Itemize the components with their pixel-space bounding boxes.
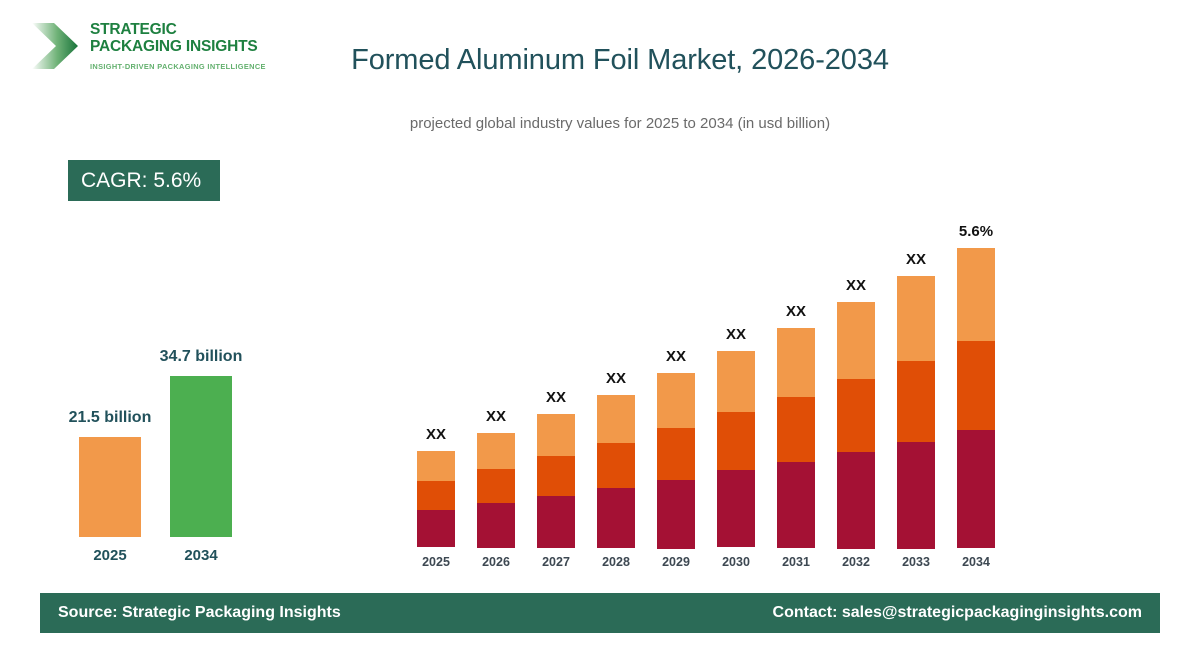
stacked-bar-segment-segment-2 (417, 481, 455, 510)
stacked-bar-top-label: XX (777, 303, 815, 320)
stacked-bar-segment-segment-3 (477, 433, 515, 469)
stacked-bar (717, 351, 755, 548)
stacked-bar-year-label: 2026 (477, 555, 515, 569)
stacked-bar-segment-segment-1 (657, 480, 695, 549)
stacked-bar-segment-segment-2 (777, 397, 815, 462)
stacked-bar-segment-segment-3 (597, 395, 635, 443)
stacked-bar-top-label: XX (837, 277, 875, 294)
stacked-bar-segment-segment-3 (717, 351, 755, 412)
stacked-bar-segment-segment-3 (897, 276, 935, 361)
stacked-bar (537, 414, 575, 548)
stacked-bar-top-label: XX (657, 348, 695, 365)
stacked-bar-top-label: XX (537, 389, 575, 406)
comparison-bar (170, 376, 232, 537)
stacked-bar-year-label: 2027 (537, 555, 575, 569)
stacked-bar-segment-segment-2 (837, 379, 875, 452)
stacked-bar-segment-segment-1 (897, 442, 935, 549)
footer-source: Source: Strategic Packaging Insights (58, 604, 341, 622)
stacked-bar-group: XX2029 (657, 195, 695, 570)
comparison-bar (79, 437, 141, 537)
stacked-bar-year-label: 2031 (777, 555, 815, 569)
stacked-bar-segment-segment-2 (957, 341, 995, 430)
stacked-bar-segment-segment-2 (597, 443, 635, 488)
comparison-bar-chart: 21.5 billion202534.7 billion2034 (50, 300, 290, 570)
stacked-bar-segment-segment-1 (717, 470, 755, 547)
stacked-bar-group: XX2032 (837, 195, 875, 570)
stacked-bar (897, 276, 935, 548)
stacked-bar (837, 302, 875, 548)
stacked-bar-segment-segment-1 (537, 496, 575, 548)
stacked-bar (597, 395, 635, 548)
footer-contact: Contact: sales@strategicpackaginginsight… (773, 604, 1142, 622)
stacked-bar-group: XX2030 (717, 195, 755, 570)
stacked-bar-segment-segment-2 (717, 412, 755, 470)
footer-bar: Source: Strategic Packaging Insights Con… (40, 593, 1160, 633)
stacked-bar-segment-segment-1 (477, 503, 515, 548)
stacked-bar-segment-segment-1 (957, 430, 995, 548)
stacked-bar-year-label: 2034 (957, 555, 995, 569)
stacked-bar-group: 5.6%2034 (957, 195, 995, 570)
comparison-bar-value-label: 34.7 billion (142, 348, 260, 366)
logo-line-1: STRATEGIC (90, 22, 270, 39)
stacked-bar-segment-segment-1 (777, 462, 815, 548)
stacked-bar-year-label: 2032 (837, 555, 875, 569)
company-logo: STRATEGIC PACKAGING INSIGHTS INSIGHT-DRI… (30, 18, 270, 80)
stacked-bar-segment-segment-1 (417, 510, 455, 547)
stacked-bar-year-label: 2029 (657, 555, 695, 569)
stacked-bar-segment-segment-2 (537, 456, 575, 496)
stacked-bar-top-label: XX (477, 408, 515, 425)
page-title: Formed Aluminum Foil Market, 2026-2034 (240, 44, 1000, 77)
stacked-bar-chart: XX2025XX2026XX2027XX2028XX2029XX2030XX20… (400, 195, 1020, 570)
stacked-bar-group: XX2033 (897, 195, 935, 570)
stacked-bar-top-label: XX (717, 326, 755, 343)
stacked-bar-segment-segment-3 (837, 302, 875, 379)
cagr-badge: CAGR: 5.6% (68, 160, 220, 201)
stacked-bar-year-label: 2033 (897, 555, 935, 569)
page-subtitle: projected global industry values for 202… (240, 115, 1000, 132)
stacked-bar-top-label: XX (417, 426, 455, 443)
stacked-bar-segment-segment-1 (597, 488, 635, 548)
stacked-bar-group: XX2026 (477, 195, 515, 570)
comparison-bar-year-label: 2034 (152, 547, 250, 564)
stacked-bar-top-label: XX (597, 370, 635, 387)
stacked-bar-segment-segment-2 (657, 428, 695, 480)
stacked-bar-top-label: XX (897, 251, 935, 268)
green-chevron-icon (30, 20, 80, 72)
stacked-bar-segment-segment-3 (957, 248, 995, 341)
stacked-bar-segment-segment-2 (897, 361, 935, 442)
stacked-bar-group: XX2028 (597, 195, 635, 570)
stacked-bar-segment-segment-2 (477, 469, 515, 503)
stacked-bar-segment-segment-3 (777, 328, 815, 397)
stacked-bar-year-label: 2025 (417, 555, 455, 569)
stacked-bar (657, 373, 695, 548)
stacked-bar-segment-segment-1 (837, 452, 875, 549)
stacked-bar (777, 328, 815, 548)
stacked-bar-group: XX2025 (417, 195, 455, 570)
stacked-bar (477, 433, 515, 548)
comparison-bar-year-label: 2025 (61, 547, 159, 564)
stacked-bar-year-label: 2030 (717, 555, 755, 569)
stacked-bar-top-label: 5.6% (957, 223, 995, 240)
comparison-bar-value-label: 21.5 billion (51, 409, 169, 427)
stacked-bar-segment-segment-3 (417, 451, 455, 481)
stacked-bar-segment-segment-3 (537, 414, 575, 456)
stacked-bar-year-label: 2028 (597, 555, 635, 569)
stacked-bar-segment-segment-3 (657, 373, 695, 428)
stacked-bar-group: XX2031 (777, 195, 815, 570)
chart-canvas: STRATEGIC PACKAGING INSIGHTS INSIGHT-DRI… (0, 0, 1200, 650)
stacked-bar (957, 248, 995, 548)
stacked-bar-group: XX2027 (537, 195, 575, 570)
stacked-bar (417, 451, 455, 548)
